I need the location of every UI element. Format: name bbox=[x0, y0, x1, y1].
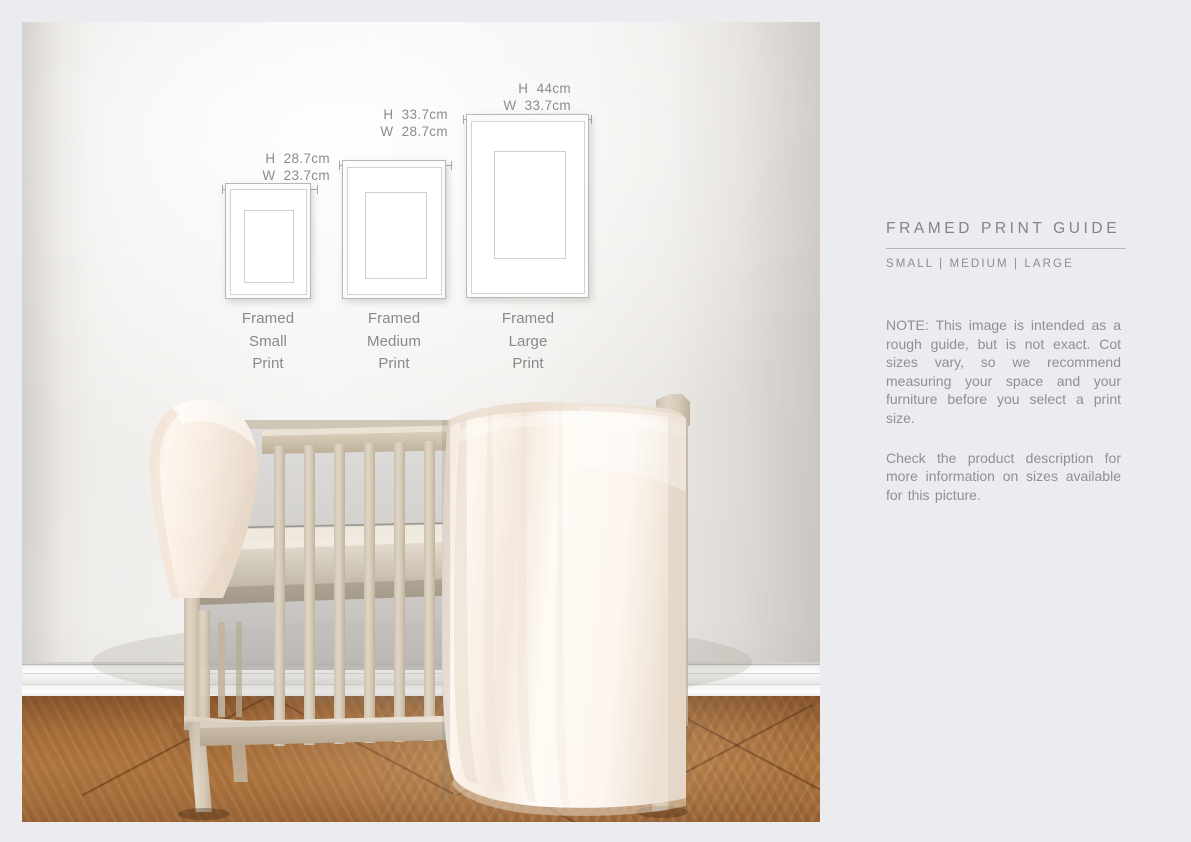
panel-subtitle: SMALL | MEDIUM | LARGE bbox=[886, 258, 1146, 270]
framed-print-guide-page: H 28.7cm W 23.7cm Framed Small Print H 3… bbox=[0, 0, 1191, 842]
cot-illustration bbox=[22, 22, 820, 822]
panel-title: FRAMED PRINT GUIDE bbox=[886, 22, 1146, 238]
info-panel: FRAMED PRINT GUIDE SMALL | MEDIUM | LARG… bbox=[886, 22, 1146, 504]
panel-divider bbox=[886, 248, 1126, 249]
blanket-right bbox=[442, 402, 686, 816]
panel-note-primary: NOTE: This image is intended as a rough … bbox=[886, 316, 1121, 428]
nursery-photo: H 28.7cm W 23.7cm Framed Small Print H 3… bbox=[22, 22, 820, 822]
panel-note-secondary: Check the product description for more i… bbox=[886, 449, 1121, 505]
